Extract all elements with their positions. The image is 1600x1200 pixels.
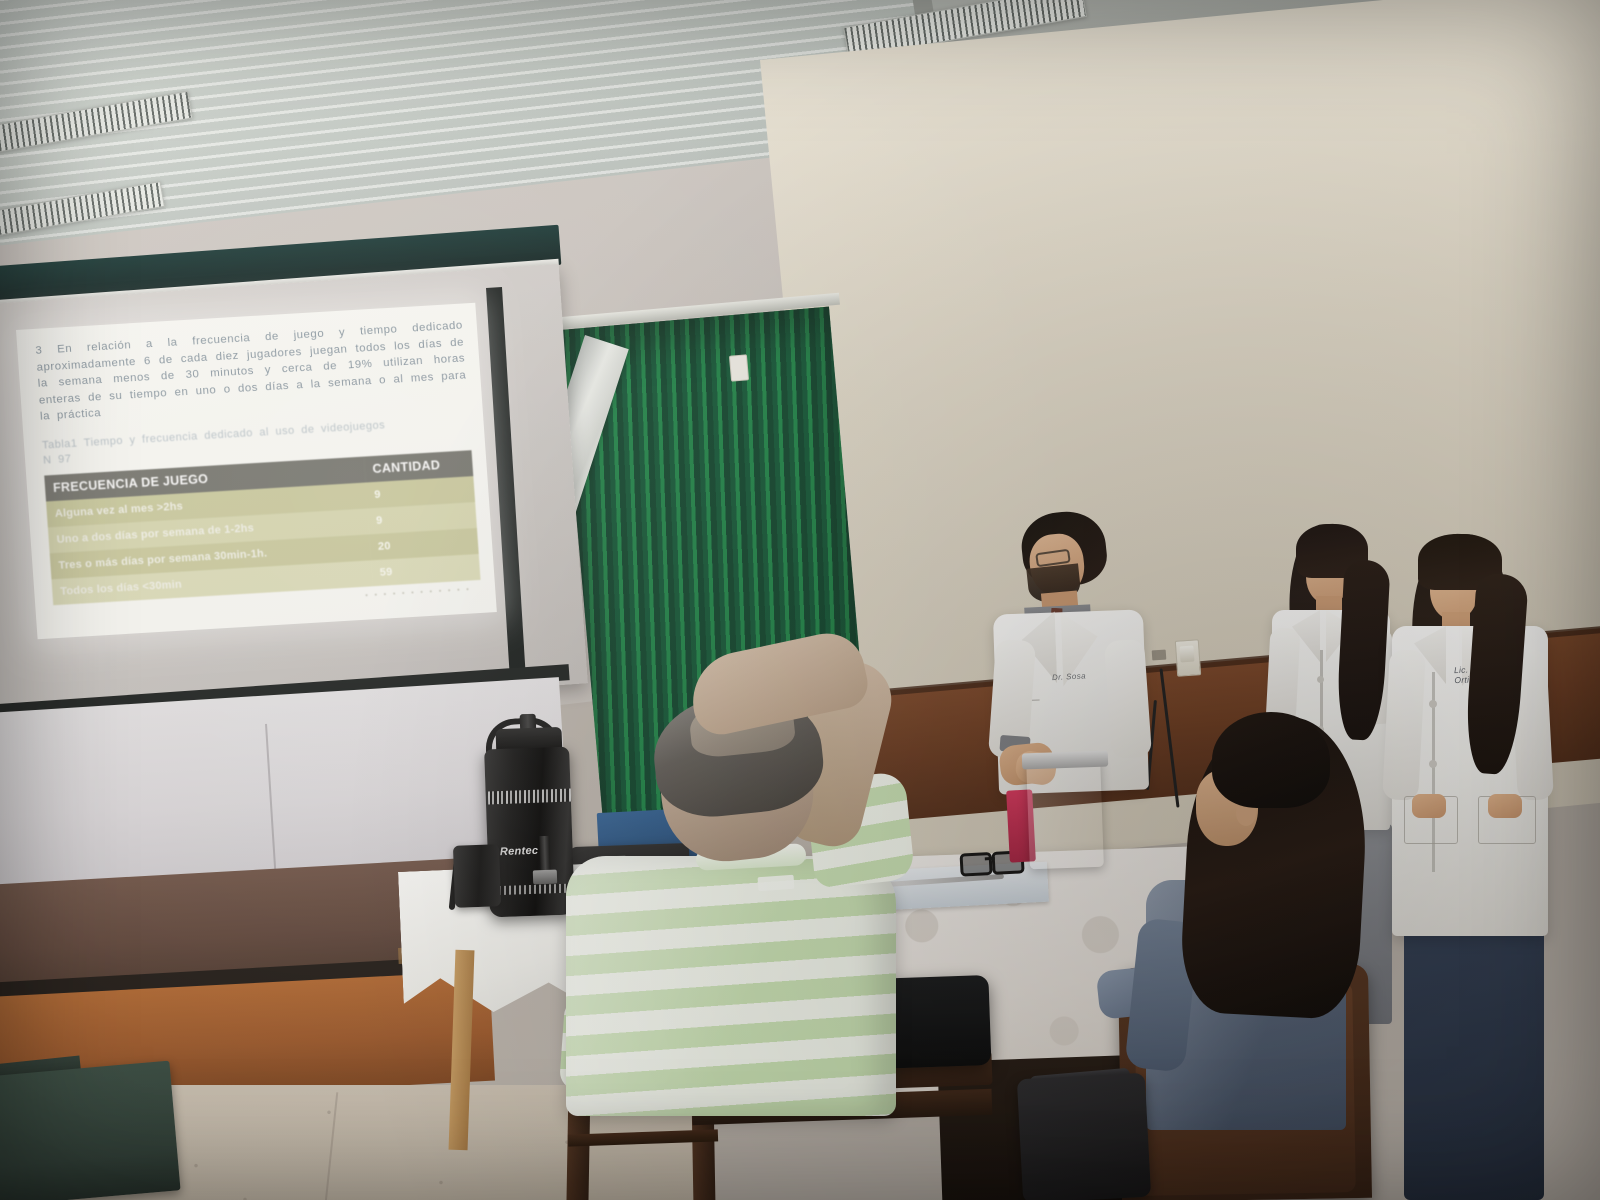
candy-jar-contents: [1026, 757, 1104, 870]
student-b-jeans: [1404, 930, 1544, 1200]
slide-data-table: FRECUENCIA DE JUEGO CANTIDAD Alguna vez …: [44, 450, 480, 605]
presenter-coat-embroidery: Dr. Sosa: [1052, 671, 1095, 685]
glasses-bridge: [985, 857, 995, 861]
attendee-man-polo-highlight: [566, 856, 896, 1116]
wall-switch[interactable]: [729, 354, 749, 381]
conference-room-photo: 3 En relación a la frecuencia de juego y…: [0, 0, 1600, 1200]
student-b-hand-left: [1412, 794, 1446, 818]
thermos-brand-label: Rentec: [500, 844, 563, 864]
coat-button: [1317, 676, 1324, 683]
power-plug[interactable]: [1179, 646, 1194, 663]
attendee-woman-hair-bun: [1212, 712, 1330, 808]
wall-plate-small: [1152, 650, 1167, 661]
slide-paragraph: 3 En relación a la frecuencia de juego y…: [35, 318, 468, 426]
candy-jar-lid[interactable]: [1022, 751, 1109, 770]
candy-jar[interactable]: [1026, 757, 1104, 870]
presenter-arm-right: [1104, 639, 1152, 760]
student-a-sleeve-left: [1266, 627, 1301, 724]
mate-cup[interactable]: [453, 844, 501, 908]
green-desk: [0, 1061, 181, 1200]
glasses-lens-left: [960, 852, 993, 877]
floor-bag[interactable]: [1017, 1073, 1151, 1200]
thermos-spout-tip[interactable]: [533, 870, 557, 885]
coat-button: [1429, 700, 1437, 708]
coat-button: [1429, 760, 1437, 768]
shirt-tag: [758, 875, 795, 891]
student-b-hand-right: [1488, 794, 1522, 818]
projected-slide: 3 En relación a la frecuencia de juego y…: [16, 303, 497, 640]
